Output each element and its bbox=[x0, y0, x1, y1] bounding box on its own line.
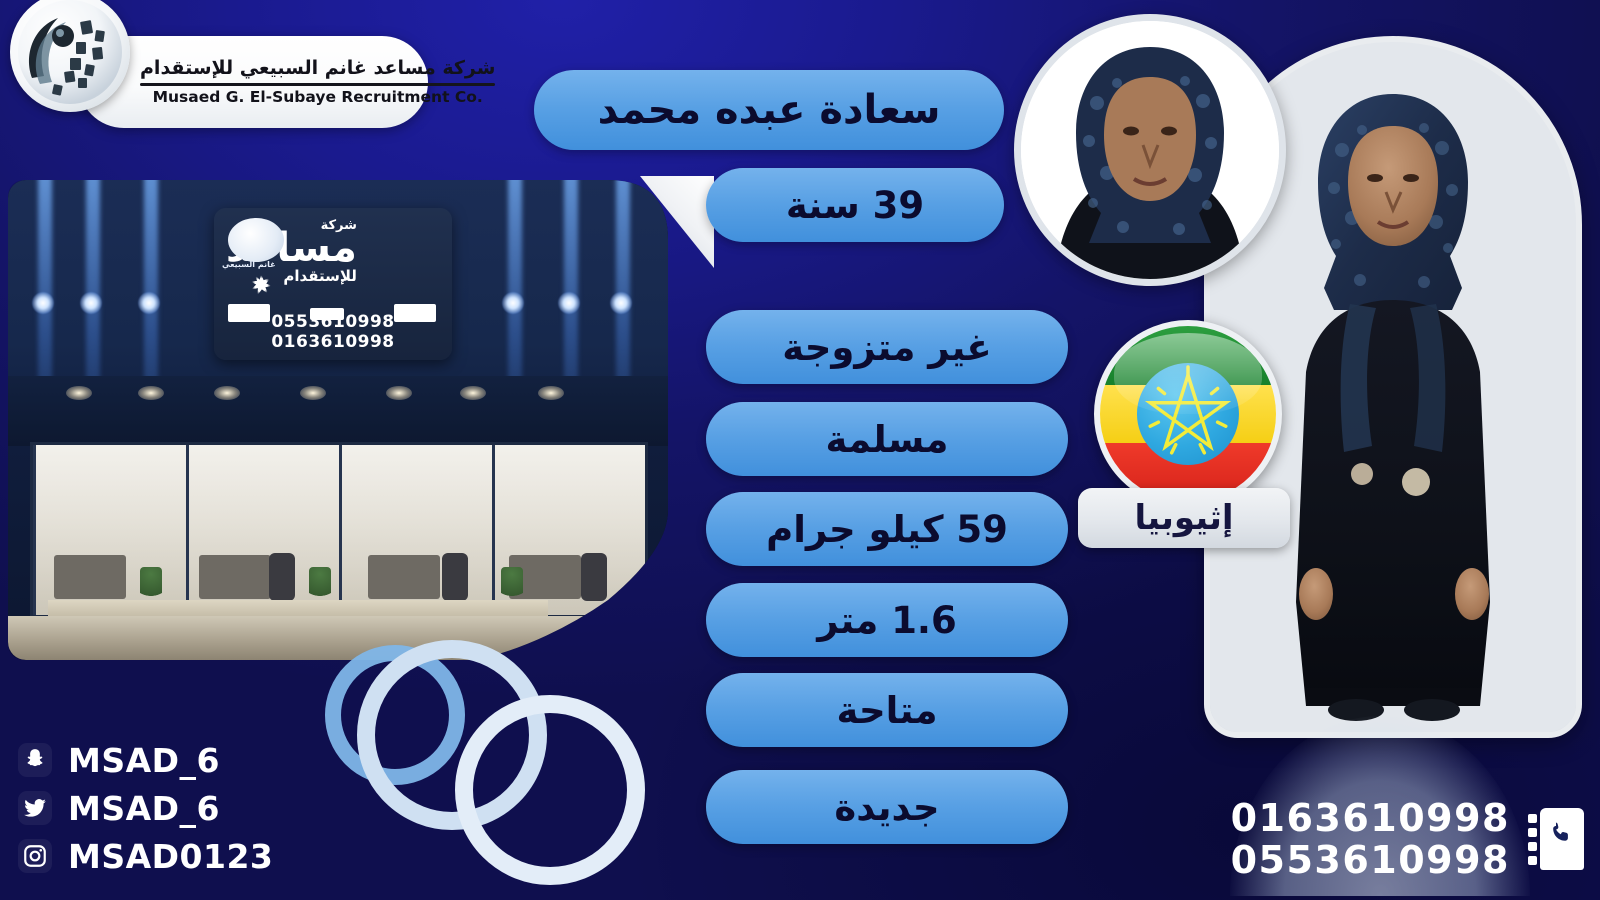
sign-emblem-icon bbox=[228, 218, 284, 262]
snapchat-handle[interactable]: MSAD_6 bbox=[68, 741, 220, 780]
candidate-age: 39 سنة bbox=[786, 184, 924, 227]
candidate-weight: 59 كيلو جرام bbox=[766, 508, 1008, 551]
office-plant bbox=[309, 567, 331, 603]
ceiling-downlight bbox=[460, 386, 486, 400]
ceiling-downlight bbox=[66, 386, 92, 400]
candidate-availability-pill: متاحة bbox=[706, 673, 1068, 747]
facade-lamp bbox=[32, 292, 54, 314]
candidate-availability: متاحة bbox=[837, 689, 938, 732]
contact-phone-block[interactable]: 0163610998 0553610998 bbox=[1231, 797, 1584, 882]
instagram-icon[interactable] bbox=[18, 839, 52, 873]
ceiling-downlight bbox=[300, 386, 326, 400]
poster-root: شركة مساعد غانم السبيعي للإستقدام Musaed… bbox=[0, 0, 1600, 900]
candidate-marital-status: غير متزوجة bbox=[782, 326, 991, 369]
twitter-handle[interactable]: MSAD_6 bbox=[68, 789, 220, 828]
candidate-height-pill: 1.6 متر bbox=[706, 583, 1068, 657]
candidate-name: سعادة عبده محمد bbox=[598, 87, 941, 133]
company-logo-badge: شركة مساعد غانم السبيعي للإستقدام Musaed… bbox=[78, 36, 428, 128]
facade-lamp bbox=[138, 292, 160, 314]
social-row-snapchat[interactable]: MSAD_6 bbox=[18, 736, 273, 784]
company-name-ar: شركة مساعد غانم السبيعي للإستقدام bbox=[140, 59, 495, 82]
portrait-figure bbox=[1021, 21, 1279, 279]
flag-center-disc bbox=[1137, 363, 1239, 465]
phone-number-2[interactable]: 0553610998 bbox=[1231, 839, 1510, 882]
sign-phone-left: 0553610998 bbox=[271, 312, 394, 332]
facade-lamp bbox=[80, 292, 102, 314]
street-curb bbox=[8, 616, 668, 660]
candidate-height: 1.6 متر bbox=[817, 599, 956, 642]
office-desk bbox=[199, 555, 271, 599]
social-media-list: MSAD_6 MSAD_6 MSAD0123 bbox=[18, 736, 273, 880]
ethiopia-flag-icon bbox=[1094, 320, 1282, 508]
instagram-handle[interactable]: MSAD0123 bbox=[68, 837, 273, 876]
twitter-icon[interactable] bbox=[18, 791, 52, 825]
candidate-name-pill: سعادة عبده محمد bbox=[534, 70, 1004, 150]
snapchat-icon[interactable] bbox=[18, 743, 52, 777]
facade-lamp bbox=[610, 292, 632, 314]
company-name-en: Musaed G. El-Subaye Recruitment Co. bbox=[140, 90, 495, 106]
ceiling-downlight bbox=[138, 386, 164, 400]
candidate-age-pill: 39 سنة bbox=[706, 168, 1004, 242]
office-chair bbox=[581, 553, 607, 601]
social-row-instagram[interactable]: MSAD0123 bbox=[18, 832, 273, 880]
sign-phone-right: 0163610998 bbox=[271, 332, 394, 352]
sign-phone-numbers: 0553610998 0163610998 bbox=[214, 312, 452, 352]
ceiling-downlight bbox=[538, 386, 564, 400]
office-chair bbox=[269, 553, 295, 601]
candidate-marital-pill: غير متزوجة bbox=[706, 310, 1068, 384]
sign-emblem-caption: غانم السبيعي bbox=[222, 260, 276, 269]
logo-divider bbox=[140, 83, 495, 86]
glass-pane bbox=[339, 445, 492, 615]
sign-word-sub: للإستقدام bbox=[226, 269, 357, 284]
office-plant bbox=[140, 567, 162, 603]
country-badge: إثيوبيا bbox=[1078, 488, 1290, 548]
office-storefront-photo: شركة مساعد للإستقدام غانم السبيعي 055361… bbox=[8, 180, 668, 660]
flag-star-icon bbox=[1137, 363, 1239, 465]
candidate-condition: جديدة bbox=[834, 786, 939, 829]
photo-canopy bbox=[8, 376, 668, 446]
office-desk bbox=[54, 555, 126, 599]
country-label: إثيوبيا bbox=[1134, 498, 1233, 538]
candidate-religion: مسلمة bbox=[826, 418, 949, 461]
phonebook-icon bbox=[1526, 806, 1584, 872]
globe-logo-icon bbox=[10, 0, 130, 112]
office-desk bbox=[368, 555, 440, 599]
glass-pane bbox=[186, 445, 339, 615]
candidate-weight-pill: 59 كيلو جرام bbox=[706, 492, 1068, 566]
office-glass-facade bbox=[30, 442, 648, 618]
candidate-condition-pill: جديدة bbox=[706, 770, 1068, 844]
phone-number-1[interactable]: 0163610998 bbox=[1231, 797, 1510, 840]
office-plant bbox=[501, 567, 523, 603]
office-chair bbox=[442, 553, 468, 601]
storefront-sign: شركة مساعد للإستقدام غانم السبيعي 055361… bbox=[214, 208, 452, 360]
ceiling-downlight bbox=[386, 386, 412, 400]
candidate-portrait-photo bbox=[1014, 14, 1286, 286]
glass-pane bbox=[492, 445, 645, 615]
glass-pane bbox=[33, 445, 186, 615]
decorative-ring bbox=[455, 695, 645, 885]
social-row-twitter[interactable]: MSAD_6 bbox=[18, 784, 273, 832]
ceiling-downlight bbox=[214, 386, 240, 400]
candidate-religion-pill: مسلمة bbox=[706, 402, 1068, 476]
facade-lamp bbox=[558, 292, 580, 314]
company-logo-texts: شركة مساعد غانم السبيعي للإستقدام Musaed… bbox=[140, 59, 495, 106]
facade-lamp bbox=[502, 292, 524, 314]
phone-numbers: 0163610998 0553610998 bbox=[1231, 797, 1510, 882]
